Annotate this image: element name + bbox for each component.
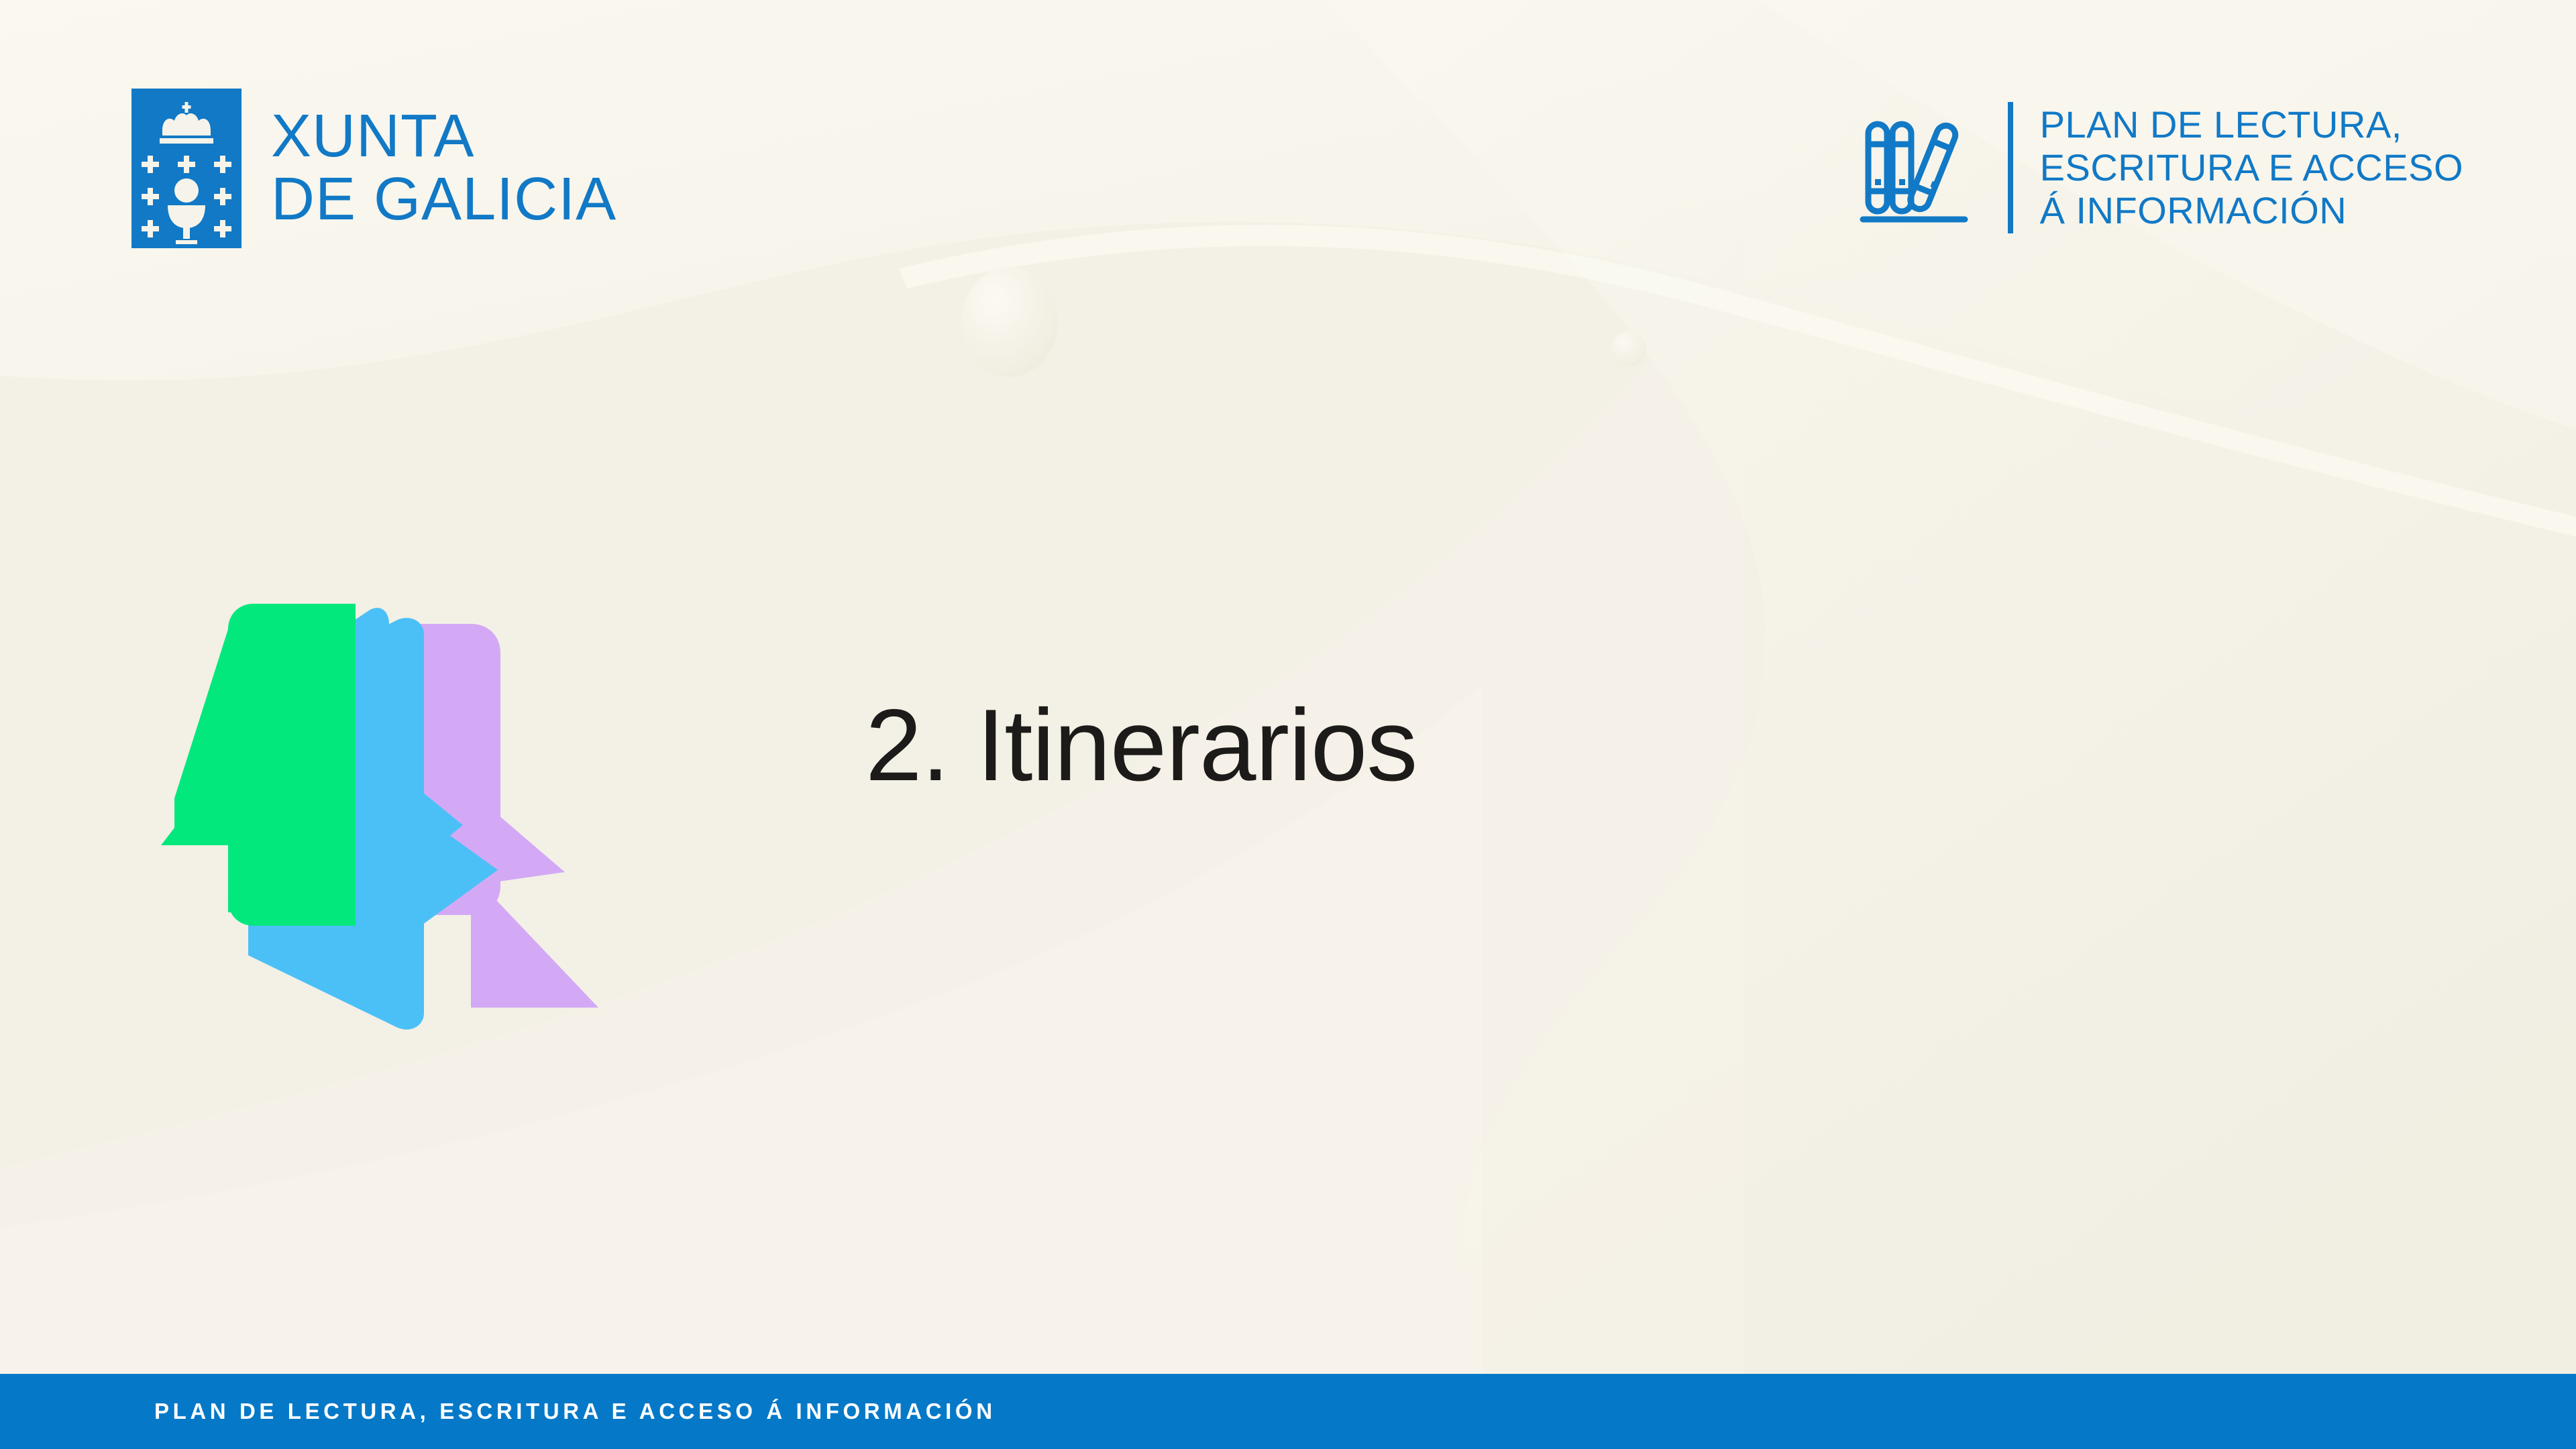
xunta-wordmark-line2: DE GALICIA xyxy=(271,168,616,231)
xunta-wordmark-line1: XUNTA xyxy=(271,105,616,168)
galicia-coat-of-arms-icon xyxy=(131,89,241,248)
plan-logo-divider xyxy=(2008,102,2013,233)
footer-bar: PLAN DE LECTURA, ESCRITURA E ACCESO Á IN… xyxy=(0,1374,2576,1449)
xunta-wordmark: XUNTA DE GALICIA xyxy=(271,105,616,231)
plan-logo-line1: PLAN DE LECTURA, xyxy=(2040,103,2463,146)
plan-logo-line3: Á INFORMACIÓN xyxy=(2040,189,2463,232)
books-icon xyxy=(1858,104,1985,231)
presentation-slide: XUNTA DE GALICIA xyxy=(0,0,2576,1449)
plan-logo-line2: ESCRITURA E ACCESO xyxy=(2040,146,2463,189)
plan-de-lectura-logo: PLAN DE LECTURA, ESCRITURA E ACCESO Á IN… xyxy=(1858,102,2463,233)
house-arrow-graphic xyxy=(154,510,724,1040)
page-title: 2. Itinerarios xyxy=(865,684,2140,806)
footer-text: PLAN DE LECTURA, ESCRITURA E ACCESO Á IN… xyxy=(154,1399,996,1424)
plan-logo-text: PLAN DE LECTURA, ESCRITURA E ACCESO Á IN… xyxy=(2036,103,2463,231)
xunta-de-galicia-logo: XUNTA DE GALICIA xyxy=(131,89,616,248)
